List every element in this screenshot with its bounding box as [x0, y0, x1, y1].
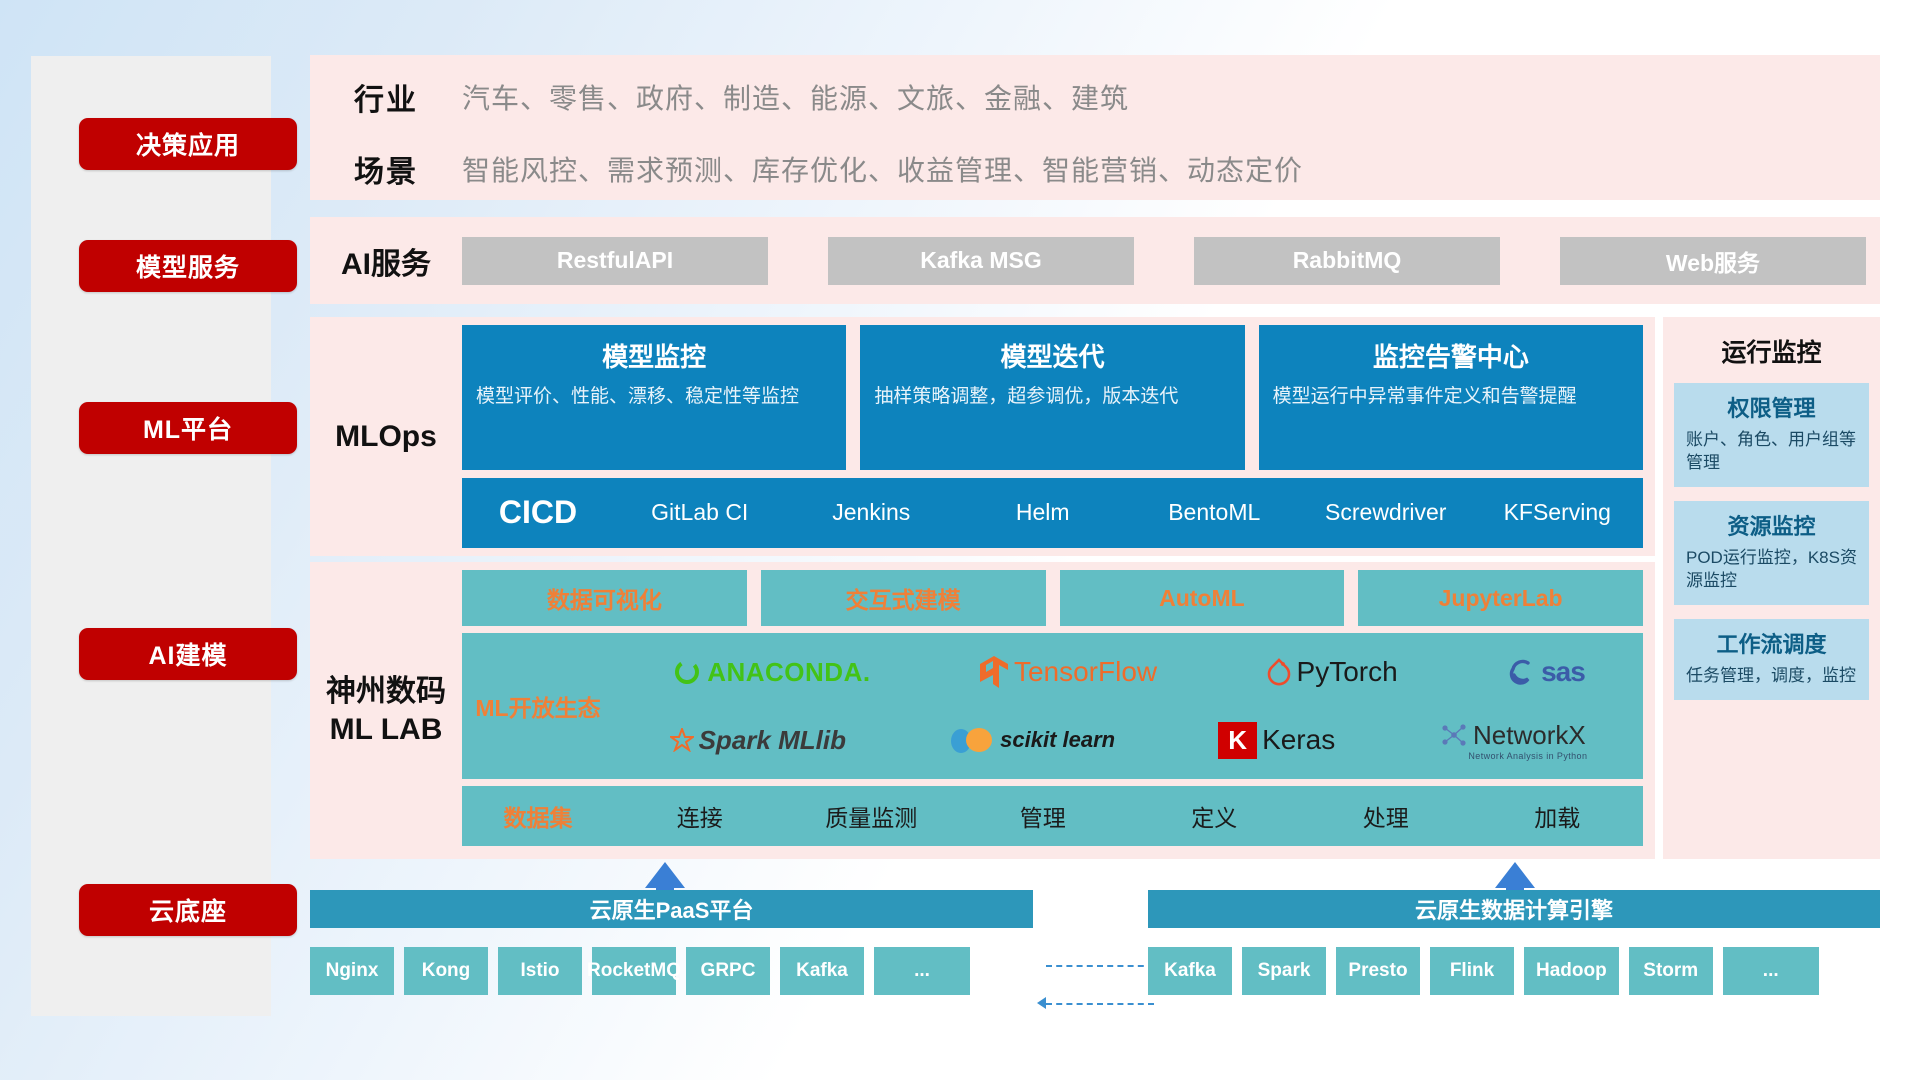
card-desc: 任务管理，调度，监控: [1686, 665, 1857, 688]
paas-chip-nginx[interactable]: Nginx: [310, 947, 394, 995]
industry-row: 行业 汽车、零售、政府、制造、能源、文旅、金融、建筑: [310, 61, 1880, 133]
ai-modeling-band: 神州数码 ML LAB 数据可视化 交互式建模 AutoML JupyterLa…: [310, 562, 1655, 859]
cicd-tool-bentoml[interactable]: BentoML: [1129, 501, 1301, 524]
mlops-content: 模型监控 模型评价、性能、漂移、稳定性等监控 模型迭代 抽样策略调整，超参调优，…: [462, 317, 1655, 556]
card-title: 模型迭代: [874, 337, 1230, 374]
mlops-card-list: 模型监控 模型评价、性能、漂移、稳定性等监控 模型迭代 抽样策略调整，超参调优，…: [462, 325, 1643, 470]
ml-ecosystem-label: ML开放生态: [462, 689, 614, 723]
cicd-row: CICD GitLab CI Jenkins Helm BentoML Scre…: [462, 478, 1643, 548]
cicd-tool-list: GitLab CI Jenkins Helm BentoML Screwdriv…: [614, 501, 1643, 524]
rail-item-ai-modeling[interactable]: AI建模: [79, 628, 297, 680]
industry-value: 汽车、零售、政府、制造、能源、文旅、金融、建筑: [462, 77, 1129, 117]
ai-service-chip-kafka-msg[interactable]: Kafka MSG: [828, 237, 1134, 285]
ai-service-chip-restfulapi[interactable]: RestfulAPI: [462, 237, 768, 285]
anaconda-logo: ANACONDA.: [672, 657, 870, 688]
scikit-learn-logo: scikit learn: [949, 726, 1115, 754]
engine-chip-flink[interactable]: Flink: [1430, 947, 1514, 995]
ai-service-chip-list: RestfulAPI Kafka MSG RabbitMQ Web服务: [462, 237, 1880, 285]
sas-icon: [1506, 658, 1536, 686]
dataset-item-manage[interactable]: 管理: [957, 799, 1129, 833]
paas-chip-row: Nginx Kong Istio RocketMQ GRPC Kafka ...: [310, 947, 970, 995]
modeling-tab-list: 数据可视化 交互式建模 AutoML JupyterLab: [462, 570, 1643, 626]
paas-chip-istio[interactable]: Istio: [498, 947, 582, 995]
dataset-item-load[interactable]: 加载: [1472, 799, 1644, 833]
card-title: 模型监控: [476, 337, 832, 374]
dataset-item-process[interactable]: 处理: [1300, 799, 1472, 833]
mlops-card-alert-center[interactable]: 监控告警中心 模型运行中异常事件定义和告警提醒: [1259, 325, 1643, 470]
runtime-monitor-panel: 运行监控 权限管理 账户、角色、用户组等管理 资源监控 POD运行监控，K8S资…: [1663, 317, 1880, 859]
ml-lab-label-line1: 神州数码: [326, 673, 446, 711]
monitor-card-workflow[interactable]: 工作流调度 任务管理，调度，监控: [1674, 619, 1869, 700]
keras-mark: K: [1218, 722, 1257, 759]
paas-chip-grpc[interactable]: GRPC: [686, 947, 770, 995]
tensorflow-icon: [979, 655, 1009, 689]
cicd-label: CICD: [462, 494, 614, 531]
mlops-card-model-iteration[interactable]: 模型迭代 抽样策略调整，超参调优，版本迭代: [860, 325, 1244, 470]
sas-wordmark: sas: [1541, 656, 1585, 688]
cicd-tool-gitlab-ci[interactable]: GitLab CI: [614, 501, 786, 524]
paas-chip-more[interactable]: ...: [874, 947, 970, 995]
networkx-icon: [1440, 722, 1468, 748]
tab-automl[interactable]: AutoML: [1060, 570, 1345, 626]
monitor-card-permission[interactable]: 权限管理 账户、角色、用户组等管理: [1674, 383, 1869, 487]
ai-service-band: AI服务 RestfulAPI Kafka MSG RabbitMQ Web服务: [310, 217, 1880, 304]
ml-lab-label-line2: ML LAB: [330, 711, 443, 749]
diagram-canvas: 决策应用 模型服务 ML平台 AI建模 云底座 行业 汽车、零售、政府、制造、能…: [0, 0, 1920, 1080]
sas-logo: sas: [1506, 656, 1585, 688]
rail-item-decision-app[interactable]: 决策应用: [79, 118, 297, 170]
cicd-tool-kfserving[interactable]: KFServing: [1472, 501, 1644, 524]
scene-label: 场景: [310, 147, 462, 191]
logo-row-1: ANACONDA. TensorFlow: [618, 639, 1639, 705]
paas-chip-kong[interactable]: Kong: [404, 947, 488, 995]
card-desc: 账户、角色、用户组等管理: [1686, 429, 1857, 475]
dataset-item-connect[interactable]: 连接: [614, 799, 786, 833]
dataset-item-list: 连接 质量监测 管理 定义 处理 加载: [614, 799, 1643, 833]
logo-row-2: Spark MLlib scikit learn K Keras: [618, 707, 1639, 773]
ai-service-label: AI服务: [310, 239, 462, 283]
dataset-row: 数据集 连接 质量监测 管理 定义 处理 加载: [462, 786, 1643, 846]
scikit-learn-wordmark: scikit learn: [1000, 727, 1115, 753]
data-engine-bar[interactable]: 云原生数据计算引擎: [1148, 890, 1880, 928]
tensorflow-logo: TensorFlow: [979, 655, 1157, 689]
cicd-tool-screwdriver[interactable]: Screwdriver: [1300, 501, 1472, 524]
networkx-wordmark: NetworkX: [1473, 720, 1586, 751]
card-title: 资源监控: [1686, 509, 1857, 541]
keras-wordmark: Keras: [1262, 724, 1335, 756]
pytorch-icon: [1266, 657, 1292, 687]
spark-mllib-logo: Spark MLlib: [670, 725, 846, 756]
anaconda-wordmark: ANACONDA.: [707, 657, 870, 688]
card-desc: 模型运行中异常事件定义和告警提醒: [1273, 384, 1629, 410]
scene-row: 场景 智能风控、需求预测、库存优化、收益管理、智能营销、动态定价: [310, 133, 1880, 205]
engine-chip-presto[interactable]: Presto: [1336, 947, 1420, 995]
pytorch-logo: PyTorch: [1266, 656, 1398, 688]
dataset-label: 数据集: [462, 799, 614, 833]
mlops-label: MLOps: [310, 317, 462, 556]
modeling-content: 数据可视化 交互式建模 AutoML JupyterLab ML开放生态 ANA…: [462, 562, 1655, 859]
card-desc: 模型评价、性能、漂移、稳定性等监控: [476, 384, 832, 410]
networkx-tagline: Network Analysis in Python: [1468, 751, 1587, 761]
card-title: 监控告警中心: [1273, 337, 1629, 374]
ai-service-chip-web-service[interactable]: Web服务: [1560, 237, 1866, 285]
rail-item-cloud-base[interactable]: 云底座: [79, 884, 297, 936]
engine-chip-kafka[interactable]: Kafka: [1148, 947, 1232, 995]
scikit-learn-icon: [949, 726, 995, 754]
paas-chip-kafka[interactable]: Kafka: [780, 947, 864, 995]
cicd-tool-jenkins[interactable]: Jenkins: [786, 501, 958, 524]
runtime-monitor-title: 运行监控: [1674, 333, 1869, 369]
engine-chip-hadoop[interactable]: Hadoop: [1524, 947, 1619, 995]
paas-chip-rocketmq[interactable]: RocketMQ: [592, 947, 676, 995]
ml-lab-label: 神州数码 ML LAB: [310, 562, 462, 859]
spark-star-icon: [670, 728, 694, 752]
engine-chip-more[interactable]: ...: [1723, 947, 1819, 995]
cicd-tool-helm[interactable]: Helm: [957, 501, 1129, 524]
tensorflow-wordmark: TensorFlow: [1014, 656, 1157, 688]
networkx-logo: NetworkX Network Analysis in Python: [1438, 720, 1587, 761]
mlops-band: MLOps 模型监控 模型评价、性能、漂移、稳定性等监控 模型迭代 抽样策略调整…: [310, 317, 1655, 556]
spark-mllib-wordmark: Spark MLlib: [699, 725, 846, 756]
layer-rail: 决策应用 模型服务 ML平台 AI建模 云底座: [31, 56, 271, 1016]
tab-jupyterlab[interactable]: JupyterLab: [1358, 570, 1643, 626]
mlops-card-model-monitoring[interactable]: 模型监控 模型评价、性能、漂移、稳定性等监控: [462, 325, 846, 470]
dataset-item-define[interactable]: 定义: [1129, 799, 1301, 833]
dataset-item-quality[interactable]: 质量监测: [786, 799, 958, 833]
monitor-card-resource[interactable]: 资源监控 POD运行监控，K8S资源监控: [1674, 501, 1869, 605]
industry-scene-band: 行业 汽车、零售、政府、制造、能源、文旅、金融、建筑 场景 智能风控、需求预测、…: [310, 55, 1880, 200]
card-desc: POD运行监控，K8S资源监控: [1686, 547, 1857, 593]
anaconda-icon: [672, 657, 702, 687]
engine-chip-row: Kafka Spark Presto Flink Hadoop Storm ..…: [1148, 947, 1819, 995]
paas-platform-bar[interactable]: 云原生PaaS平台: [310, 890, 1033, 928]
rail-item-ml-platform[interactable]: ML平台: [79, 402, 297, 454]
engine-chip-spark[interactable]: Spark: [1242, 947, 1326, 995]
tab-interactive-modeling[interactable]: 交互式建模: [761, 570, 1046, 626]
card-title: 工作流调度: [1686, 627, 1857, 659]
ai-service-chip-rabbitmq[interactable]: RabbitMQ: [1194, 237, 1500, 285]
card-title: 权限管理: [1686, 391, 1857, 423]
keras-logo: K Keras: [1218, 722, 1335, 759]
engine-chip-storm[interactable]: Storm: [1629, 947, 1713, 995]
tab-data-visualization[interactable]: 数据可视化: [462, 570, 747, 626]
ecosystem-logo-grid: ANACONDA. TensorFlow: [614, 633, 1643, 779]
ml-open-ecosystem: ML开放生态 ANACONDA.: [462, 633, 1643, 779]
scene-value: 智能风控、需求预测、库存优化、收益管理、智能营销、动态定价: [462, 149, 1303, 189]
industry-label: 行业: [310, 75, 462, 119]
card-desc: 抽样策略调整，超参调优，版本迭代: [874, 384, 1230, 410]
pytorch-wordmark: PyTorch: [1297, 656, 1398, 688]
rail-item-model-service[interactable]: 模型服务: [79, 240, 297, 292]
